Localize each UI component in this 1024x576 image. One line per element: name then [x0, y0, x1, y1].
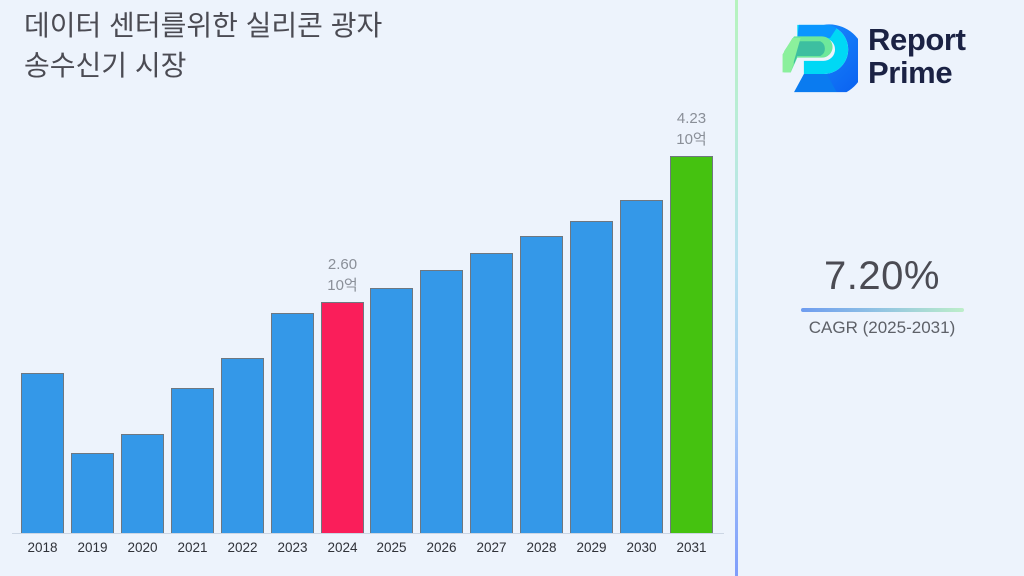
bar-column-2027 — [470, 120, 513, 534]
bar-2030 — [620, 200, 663, 534]
bar-column-2018 — [21, 120, 64, 534]
bar-column-2022 — [221, 120, 264, 534]
x-tick-2027: 2027 — [470, 540, 513, 555]
x-tick-2022: 2022 — [221, 540, 264, 555]
x-tick-2030: 2030 — [620, 540, 663, 555]
x-tick-2021: 2021 — [171, 540, 214, 555]
x-axis-baseline — [12, 533, 724, 534]
bar-2022 — [221, 358, 264, 534]
x-tick-2024: 2024 — [321, 540, 364, 555]
bar-column-2019 — [71, 120, 114, 534]
cagr-value: 7.20% — [740, 252, 1024, 300]
x-tick-2020: 2020 — [121, 540, 164, 555]
side-panel: Report Prime 7.20% CAGR (2025-2031) — [740, 0, 1024, 576]
x-tick-2028: 2028 — [520, 540, 563, 555]
bar-2026 — [420, 270, 463, 534]
cagr-block: 7.20% CAGR (2025-2031) — [740, 252, 1024, 340]
x-axis-labels: 2018201920202021202220232024202520262027… — [18, 540, 716, 564]
chart-panel: 데이터 센터를위한 실리콘 광자 송수신기 시장 2.60 10억4.23 10… — [0, 0, 736, 576]
bar-2019 — [71, 453, 114, 534]
bar-column-2023 — [271, 120, 314, 534]
bar-2031 — [670, 156, 713, 534]
bar-column-2025 — [370, 120, 413, 534]
bar-2024 — [321, 302, 364, 534]
bar-column-2029 — [570, 120, 613, 534]
x-tick-2018: 2018 — [21, 540, 64, 555]
brand-logo: Report Prime — [776, 8, 1016, 104]
bar-2020 — [121, 434, 164, 534]
plot-area: 2.60 10억4.23 10억 — [18, 120, 716, 534]
bar-2029 — [570, 221, 613, 534]
x-tick-2019: 2019 — [71, 540, 114, 555]
x-tick-2026: 2026 — [420, 540, 463, 555]
report-prime-logo-icon — [776, 15, 858, 97]
cagr-label: CAGR (2025-2031) — [740, 316, 1024, 340]
x-tick-2025: 2025 — [370, 540, 413, 555]
bar-2018 — [21, 373, 64, 534]
bar-column-2030 — [620, 120, 663, 534]
page-title: 데이터 센터를위한 실리콘 광자 송수신기 시장 — [24, 6, 684, 86]
bar-2021 — [171, 388, 214, 534]
bar-column-2026 — [420, 120, 463, 534]
x-tick-2023: 2023 — [271, 540, 314, 555]
brand-wordmark: Report Prime — [868, 23, 966, 89]
chart-infographic: 데이터 센터를위한 실리콘 광자 송수신기 시장 2.60 10억4.23 10… — [0, 0, 1024, 576]
bar-column-2024: 2.60 10억 — [321, 120, 364, 534]
bar-2025 — [370, 288, 413, 534]
bar-2028 — [520, 236, 563, 534]
bar-2023 — [271, 313, 314, 534]
x-tick-2029: 2029 — [570, 540, 613, 555]
bar-column-2028 — [520, 120, 563, 534]
bar-column-2021 — [171, 120, 214, 534]
bar-2027 — [470, 253, 513, 534]
x-tick-2031: 2031 — [670, 540, 713, 555]
bar-column-2020 — [121, 120, 164, 534]
cagr-divider-rule — [801, 308, 964, 312]
bar-column-2031: 4.23 10억 — [670, 120, 713, 534]
bar-value-label-2031: 4.23 10억 — [647, 108, 737, 150]
panel-divider — [735, 0, 738, 576]
